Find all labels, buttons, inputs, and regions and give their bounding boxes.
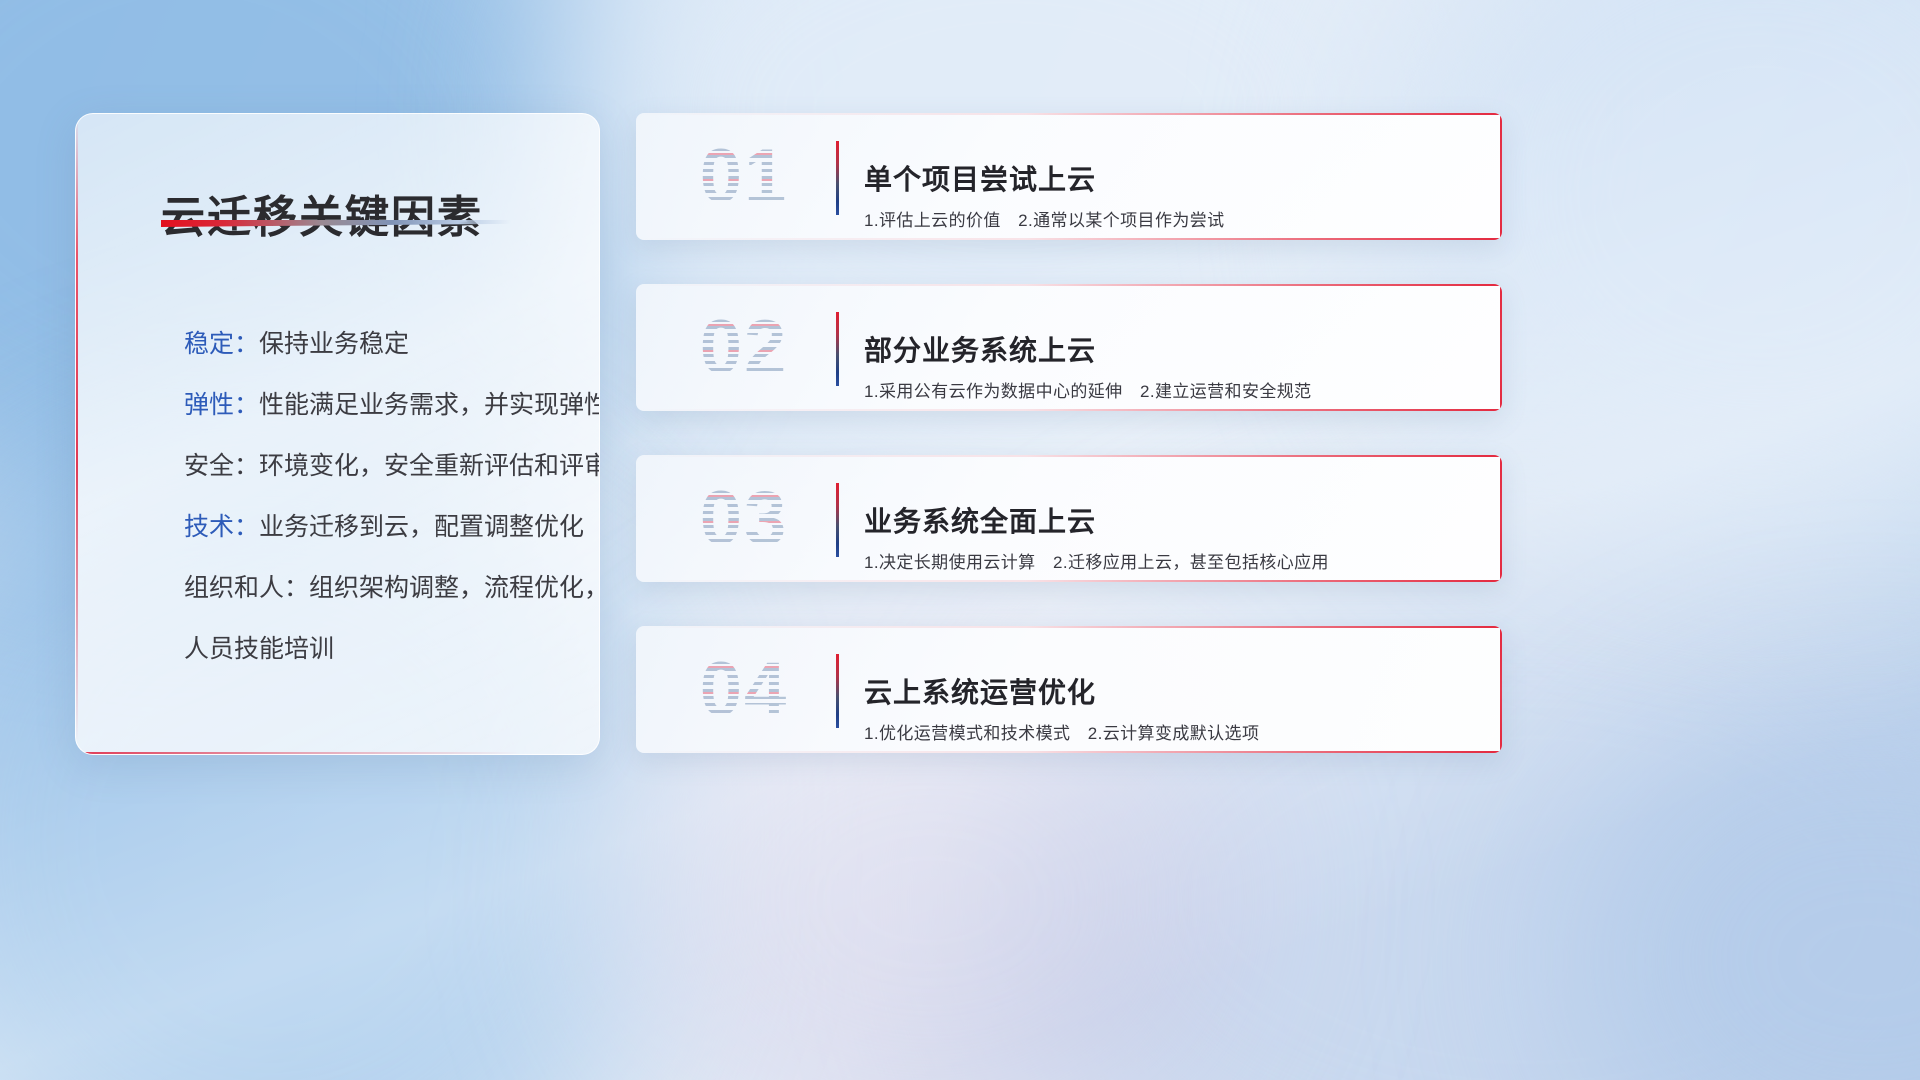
card-accent-top (636, 626, 1502, 628)
card-divider (836, 312, 839, 386)
factor-value: 业务迁移到云，配置调整优化 (259, 513, 584, 541)
stage-card[interactable]: 03 03 业务系统全面上云 1.决定长期使用云计算 2.迁移应用上云，甚至包括… (636, 455, 1502, 582)
factor-value: 组织架构调整，流程优化， (309, 574, 600, 602)
stage-description: 1.优化运营模式和技术模式 2.云计算变成默认选项 (864, 719, 1259, 744)
card-accent-bottom (636, 751, 1502, 753)
stage-description: 1.决定长期使用云计算 2.迁移应用上云，甚至包括核心应用 (864, 548, 1329, 573)
stage-card[interactable]: 01 01 单个项目尝试上云 1.评估上云的价值 2.通常以某个项目作为尝试 (636, 113, 1502, 240)
stage-card[interactable]: 02 02 部分业务系统上云 1.采用公有云作为数据中心的延伸 2.建立运营和安… (636, 284, 1502, 411)
factor-item: 稳定：保持业务稳定 (106, 314, 579, 375)
card-accent-bottom (636, 238, 1502, 240)
factor-key: 组织和人： (184, 574, 309, 602)
stage-card[interactable]: 04 04 云上系统运营优化 1.优化运营模式和技术模式 2.云计算变成默认选项 (636, 626, 1502, 753)
stage-title: 业务系统全面上云 (864, 500, 1096, 540)
card-accent-bottom (636, 409, 1502, 411)
card-divider (836, 654, 839, 728)
stage-title: 云上系统运营优化 (864, 671, 1096, 711)
key-factors-panel: 云迁移关键因素 稳定：保持业务稳定 弹性：性能满足业务需求，并实现弹性 安全：环… (75, 113, 600, 755)
card-divider (836, 483, 839, 557)
factor-item: 弹性：性能满足业务需求，并实现弹性 (106, 375, 579, 436)
stage-card-list: 01 01 单个项目尝试上云 1.评估上云的价值 2.通常以某个项目作为尝试 0… (636, 113, 1502, 797)
stage-title: 单个项目尝试上云 (864, 158, 1096, 198)
stage-number: 01 (664, 127, 824, 227)
factor-key: 技术： (184, 513, 259, 541)
card-accent-bottom (636, 580, 1502, 582)
factor-value: 环境变化，安全重新评估和评审 (259, 452, 600, 480)
stage-number: 04 (664, 640, 824, 740)
card-accent-top (636, 113, 1502, 115)
factor-value: 保持业务稳定 (259, 330, 409, 358)
factor-item: 安全：环境变化，安全重新评估和评审 (106, 436, 579, 497)
factor-list: 稳定：保持业务稳定 弹性：性能满足业务需求，并实现弹性 安全：环境变化，安全重新… (106, 314, 579, 680)
factor-item: 组织和人：组织架构调整，流程优化， (106, 558, 579, 619)
stage-description: 1.采用公有云作为数据中心的延伸 2.建立运营和安全规范 (864, 377, 1312, 402)
stage-title: 部分业务系统上云 (864, 329, 1096, 369)
factor-value: 性能满足业务需求，并实现弹性 (259, 391, 600, 419)
card-accent-top (636, 284, 1502, 286)
factor-item: 技术：业务迁移到云，配置调整优化 (106, 497, 579, 558)
card-accent-top (636, 455, 1502, 457)
page-title: 云迁移关键因素 (161, 181, 483, 245)
factor-key: 安全： (184, 452, 259, 480)
factor-value: 人员技能培训 (184, 635, 334, 663)
stage-number: 02 (664, 298, 824, 398)
factor-item: 人员技能培训 (106, 619, 579, 680)
factor-key: 稳定： (184, 330, 259, 358)
stage-number: 03 (664, 469, 824, 569)
stage-description: 1.评估上云的价值 2.通常以某个项目作为尝试 (864, 206, 1225, 231)
card-divider (836, 141, 839, 215)
factor-key: 弹性： (184, 391, 259, 419)
